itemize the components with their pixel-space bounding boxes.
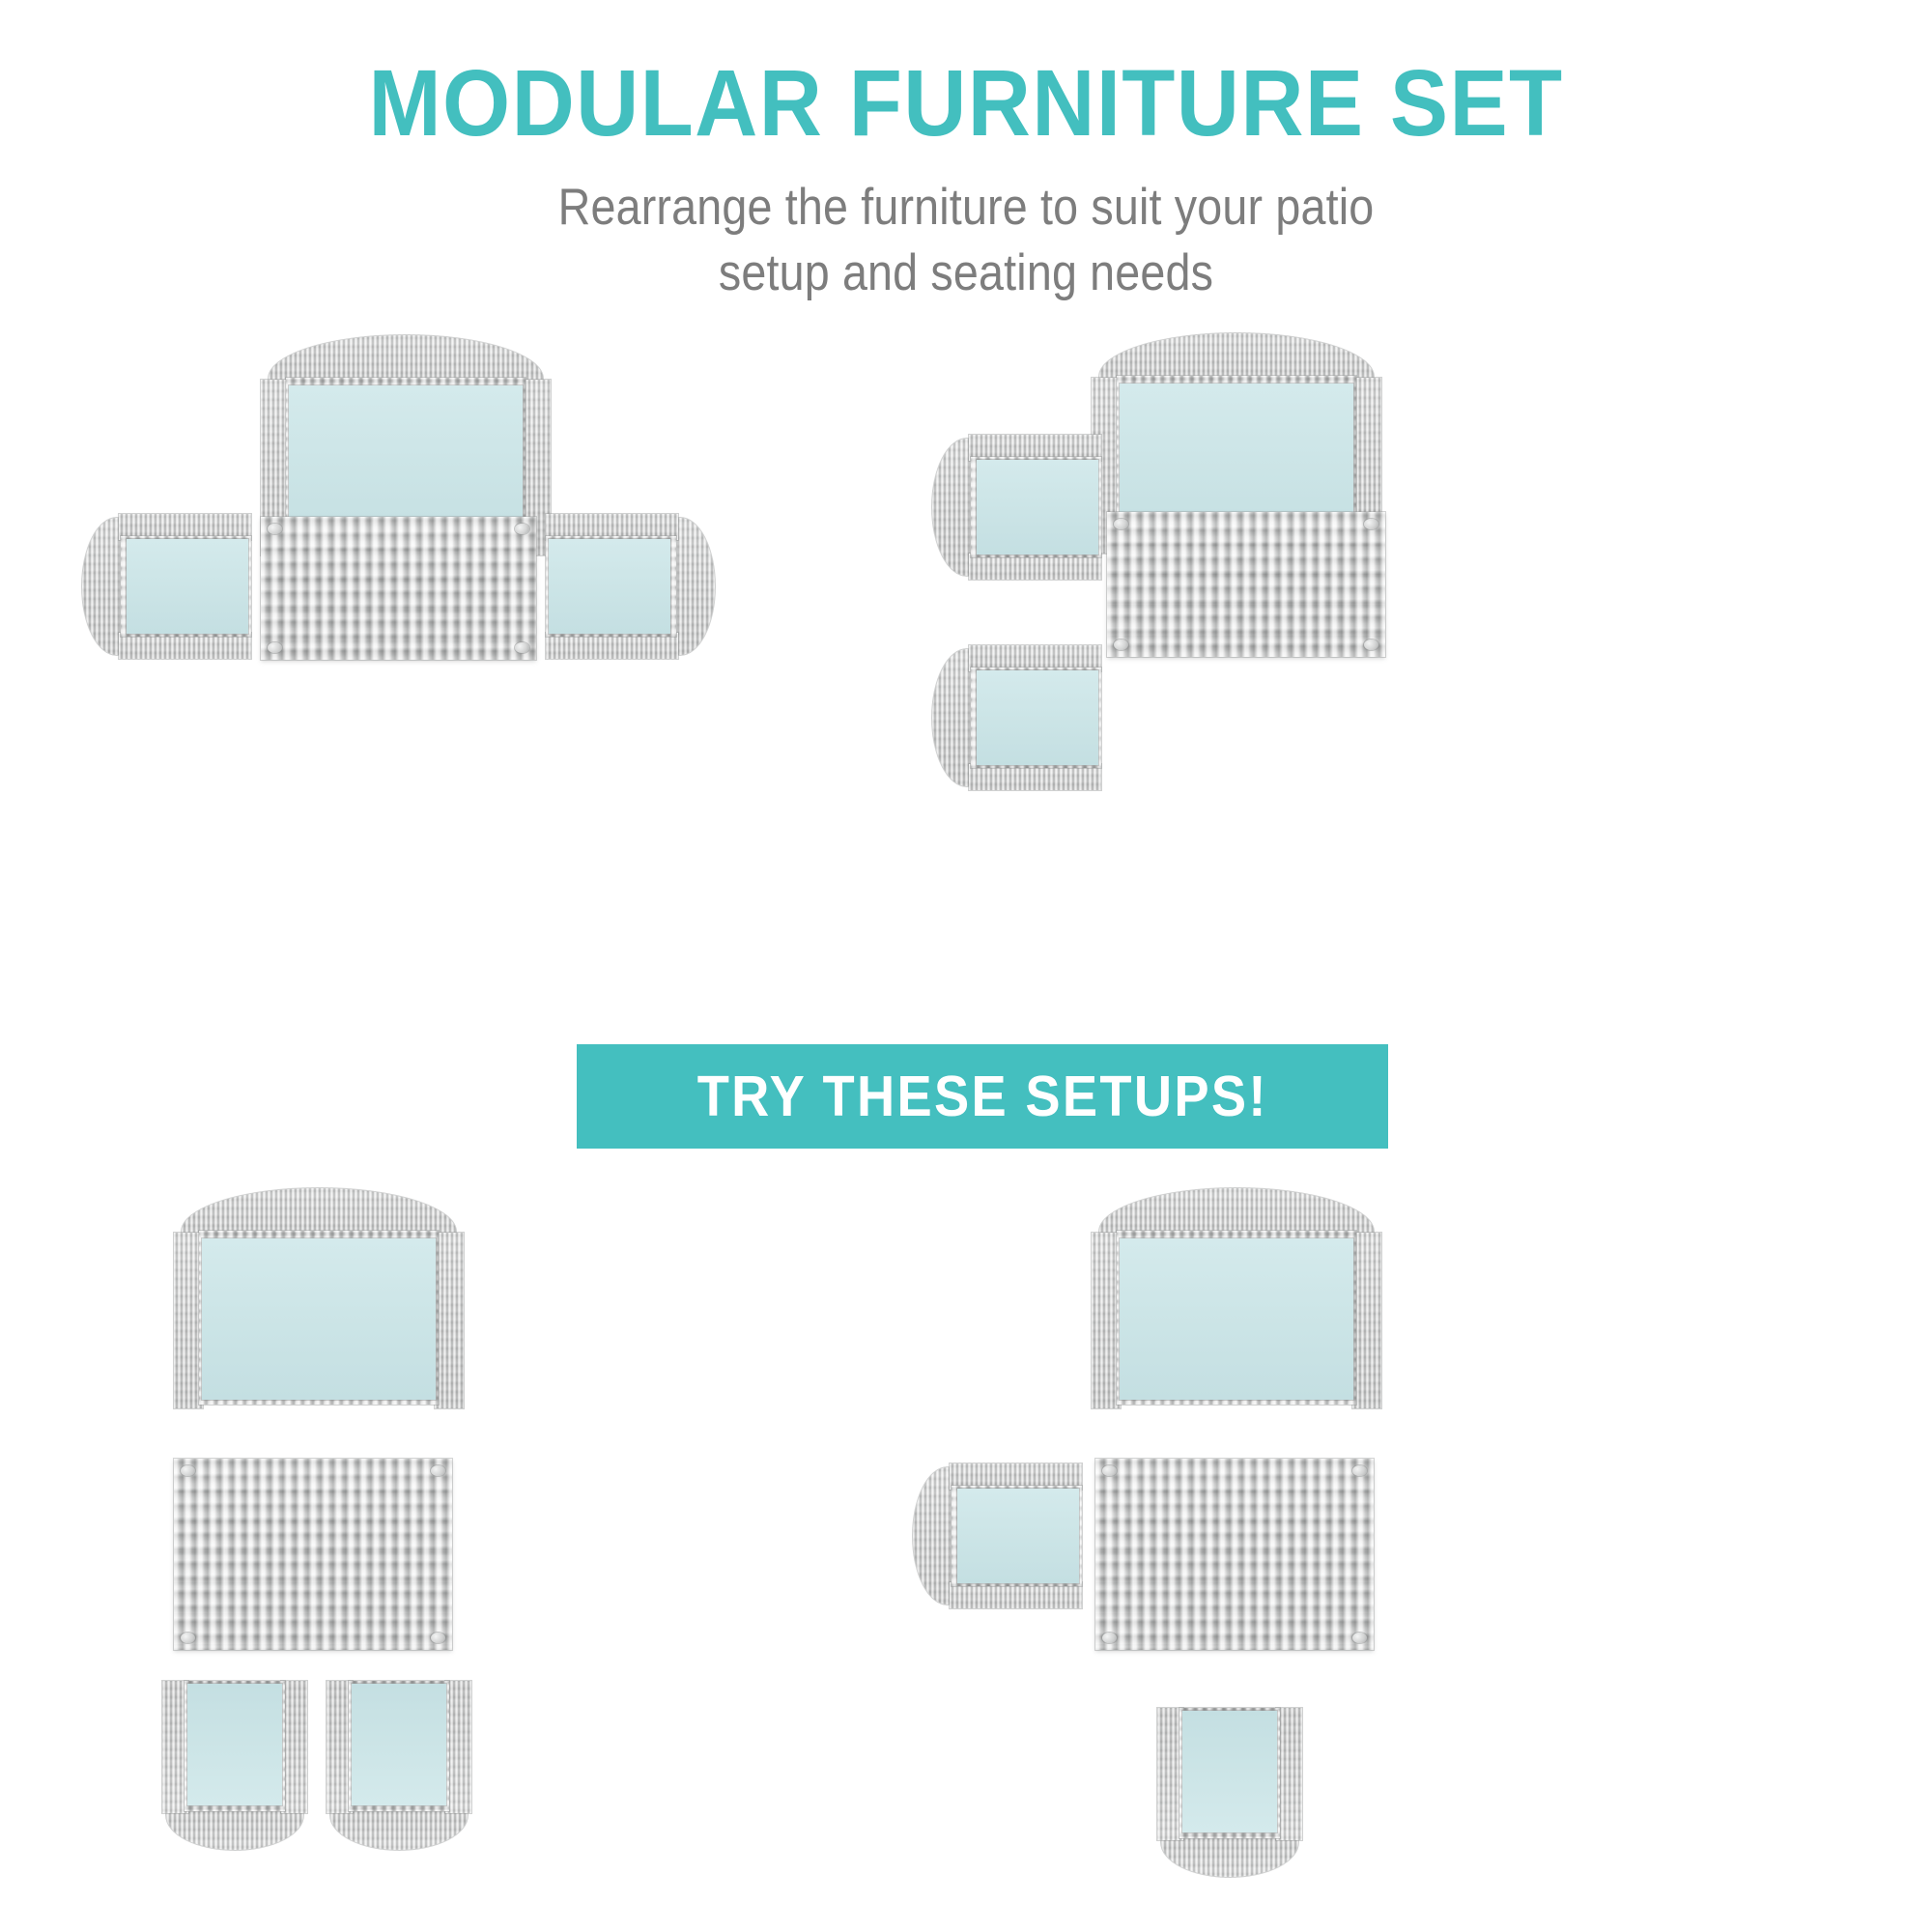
layout-diagram-3 (0, 1198, 966, 1932)
loveseat-arm-right (1352, 1233, 1381, 1408)
layout-diagram-1 (0, 386, 966, 1005)
table-foot-br (1364, 639, 1378, 650)
loveseat (174, 1188, 464, 1430)
loveseat (1092, 1188, 1381, 1430)
loveseat-cushion (202, 1238, 436, 1400)
banner-label: TRY THESE SETUPS! (696, 1064, 1267, 1129)
table-foot-bl (181, 1633, 195, 1643)
loveseat-cushion (1120, 1238, 1353, 1400)
armchair-bl-arm-left (281, 1681, 307, 1813)
armchair-br-cushion (352, 1684, 446, 1805)
page-subtitle: Rearrange the furniture to suit your pat… (116, 150, 1816, 306)
armchair-right-cushion (549, 539, 670, 634)
armchair-bottom-cushion (1182, 1711, 1277, 1833)
armchair-lower-arm-bottom (969, 764, 1101, 790)
armchair-lower-cushion (977, 670, 1098, 765)
coffee-table (261, 517, 536, 660)
table-foot-tl (181, 1465, 195, 1476)
table-foot-tr (515, 524, 529, 534)
armchair-left-cushion (127, 539, 248, 634)
try-these-setups-banner: TRY THESE SETUPS! (577, 1044, 1388, 1149)
table-foot-br (515, 642, 529, 653)
armchair-left (82, 514, 251, 659)
layout-diagram-2 (966, 386, 1932, 1005)
armchair-bottom-right (327, 1681, 471, 1850)
table-foot-br (1352, 1633, 1367, 1643)
subtitle-line-2: setup and seating needs (116, 241, 1816, 306)
armchair-right (546, 514, 715, 659)
table-foot-tr (1352, 1465, 1367, 1476)
table-foot-tr (431, 1465, 445, 1476)
coffee-table (174, 1459, 452, 1650)
armchair-right-arm-bottom (546, 633, 678, 659)
armchair-side (913, 1463, 1082, 1608)
armchair-lower (932, 645, 1101, 790)
layout-diagram-4 (966, 1198, 1932, 1932)
armchair-bottom (1157, 1708, 1302, 1877)
armchair-upper-cushion (977, 460, 1098, 554)
coffee-table (1095, 1459, 1374, 1650)
subtitle-line-1: Rearrange the furniture to suit your pat… (116, 175, 1816, 241)
table-foot-tl (1114, 519, 1128, 529)
table-foot-tr (1364, 519, 1378, 529)
table-foot-bl (268, 642, 282, 653)
table-foot-bl (1102, 1633, 1117, 1643)
armchair-upper (932, 435, 1101, 580)
page-title: MODULAR FURNITURE SET (68, 0, 1864, 150)
armchair-bottom-left (162, 1681, 307, 1850)
coffee-table (1107, 512, 1385, 657)
armchair-bl-cushion (187, 1684, 282, 1805)
armchair-side-cushion (957, 1489, 1079, 1583)
table-foot-bl (1114, 639, 1128, 650)
armchair-upper-arm-bottom (969, 554, 1101, 580)
table-foot-br (431, 1633, 445, 1643)
armchair-bottom-arm-left (1276, 1708, 1302, 1840)
armchair-br-arm-left (445, 1681, 471, 1813)
table-foot-tl (268, 524, 282, 534)
armchair-left-arm-bottom (119, 633, 251, 659)
table-foot-tl (1102, 1465, 1117, 1476)
armchair-side-arm-bottom (950, 1582, 1082, 1608)
loveseat-arm-right (435, 1233, 464, 1408)
header: MODULAR FURNITURE SET Rearrange the furn… (0, 0, 1932, 306)
